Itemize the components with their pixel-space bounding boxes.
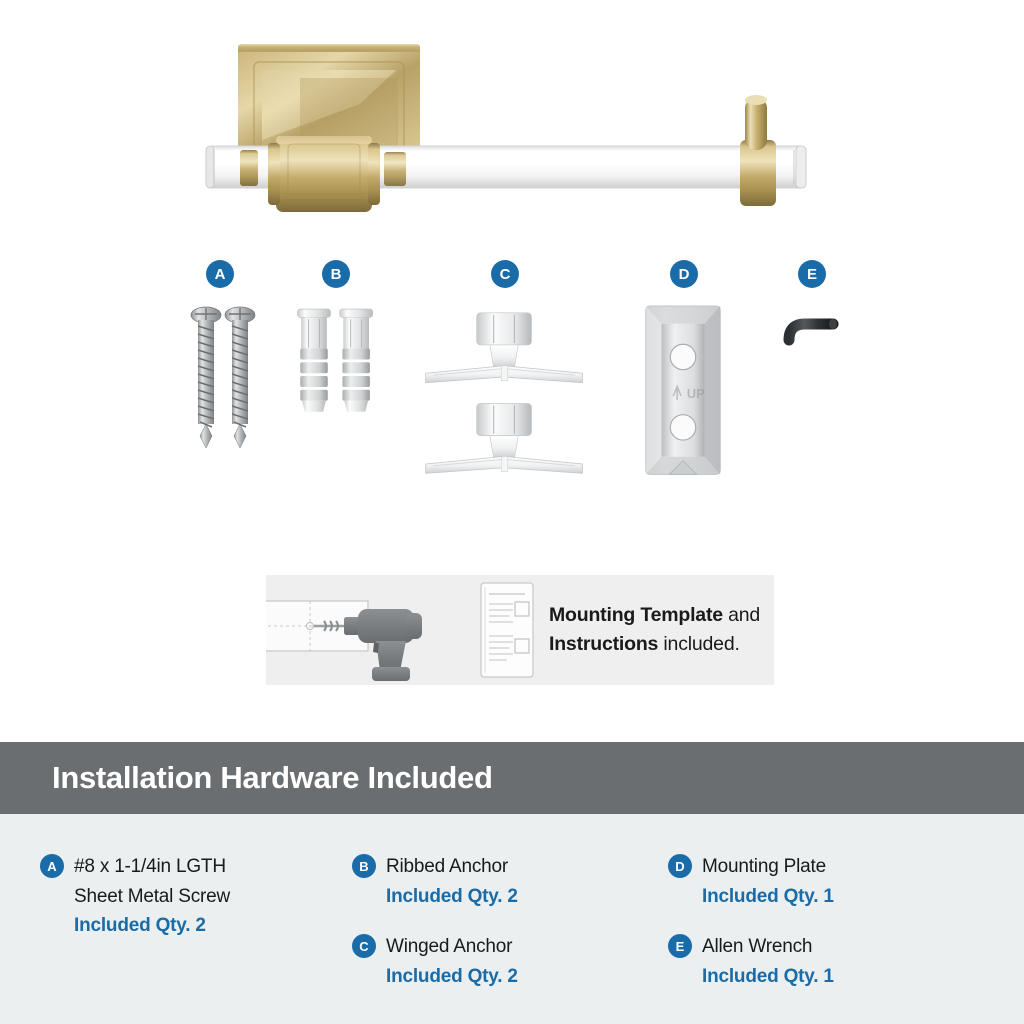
hardware-badge-c: C <box>491 260 519 288</box>
legend-qty-e: Included Qty. 1 <box>702 962 834 992</box>
plate-up-marking: UP <box>687 386 705 401</box>
instructions-bold: Instructions <box>549 633 658 655</box>
legend-badge-d: D <box>668 854 692 878</box>
legend-badge-e: E <box>668 934 692 958</box>
legend-badge-c: C <box>352 934 376 958</box>
allen-wrench-illustration <box>777 300 847 540</box>
legend-entry-b: B Ribbed Anchor Included Qty. 2 <box>352 852 518 911</box>
legend-entry-d: D Mounting Plate Included Qty. 1 <box>668 852 834 911</box>
mounting-template-and: and <box>723 604 760 626</box>
hardware-badge-b: B <box>322 260 350 288</box>
legend-qty-d: Included Qty. 1 <box>702 882 834 912</box>
mounting-template-bold: Mounting Template <box>549 604 723 626</box>
section-title: Installation Hardware Included <box>0 760 493 796</box>
hardware-item-d-mounting-plate: D <box>640 260 728 500</box>
legend-entry-a: A #8 x 1-1/4in LGTH Sheet Metal Screw In… <box>40 852 230 941</box>
legend-body: A #8 x 1-1/4in LGTH Sheet Metal Screw In… <box>0 814 1024 1024</box>
installation-hardware-section: Installation Hardware Included A #8 x 1-… <box>0 742 1024 1024</box>
legend-entry-c: C Winged Anchor Included Qty. 2 <box>352 932 518 991</box>
legend-label-c: Winged Anchor <box>386 932 518 962</box>
hardware-badge-a: A <box>206 260 234 288</box>
legend-badge-b: B <box>352 854 376 878</box>
product-hardware-infographic: A <box>0 0 1024 1024</box>
legend-qty-b: Included Qty. 2 <box>386 882 518 912</box>
product-hero-image <box>0 0 1024 250</box>
hardware-items-row: A <box>0 260 1024 540</box>
legend-label-a-line1: #8 x 1-1/4in LGTH <box>74 852 230 882</box>
legend-label-a-line2: Sheet Metal Screw <box>74 882 230 912</box>
legend-entry-e: E Allen Wrench Included Qty. 1 <box>668 932 834 991</box>
screws-illustration <box>176 300 264 480</box>
legend-label-d: Mounting Plate <box>702 852 834 882</box>
hardware-item-b-ribbed-anchors: B <box>292 260 380 430</box>
mounting-plate-illustration: UP <box>640 300 728 500</box>
winged-anchors-illustration <box>420 300 590 490</box>
toilet-paper-holder-illustration <box>0 0 1024 250</box>
legend-qty-a: Included Qty. 2 <box>74 911 230 941</box>
hardware-item-a-screws: A <box>176 260 264 480</box>
instructions-tail: included. <box>658 633 739 655</box>
legend-label-b: Ribbed Anchor <box>386 852 518 882</box>
section-header-bar: Installation Hardware Included <box>0 742 1024 814</box>
mounting-template-text: Mounting Template and Instructions inclu… <box>541 601 774 659</box>
drill-template-illustration <box>266 575 471 685</box>
legend-badge-a: A <box>40 854 64 878</box>
legend-qty-c: Included Qty. 2 <box>386 962 518 992</box>
hardware-badge-e: E <box>798 260 826 288</box>
mounting-template-panel: Mounting Template and Instructions inclu… <box>266 575 774 685</box>
hardware-item-c-winged-anchors: C <box>420 260 590 490</box>
hardware-item-e-allen-wrench: E <box>768 260 856 540</box>
ribbed-anchors-illustration <box>292 300 380 430</box>
instructions-document-icon <box>471 575 541 685</box>
legend-label-e: Allen Wrench <box>702 932 834 962</box>
hardware-badge-d: D <box>670 260 698 288</box>
